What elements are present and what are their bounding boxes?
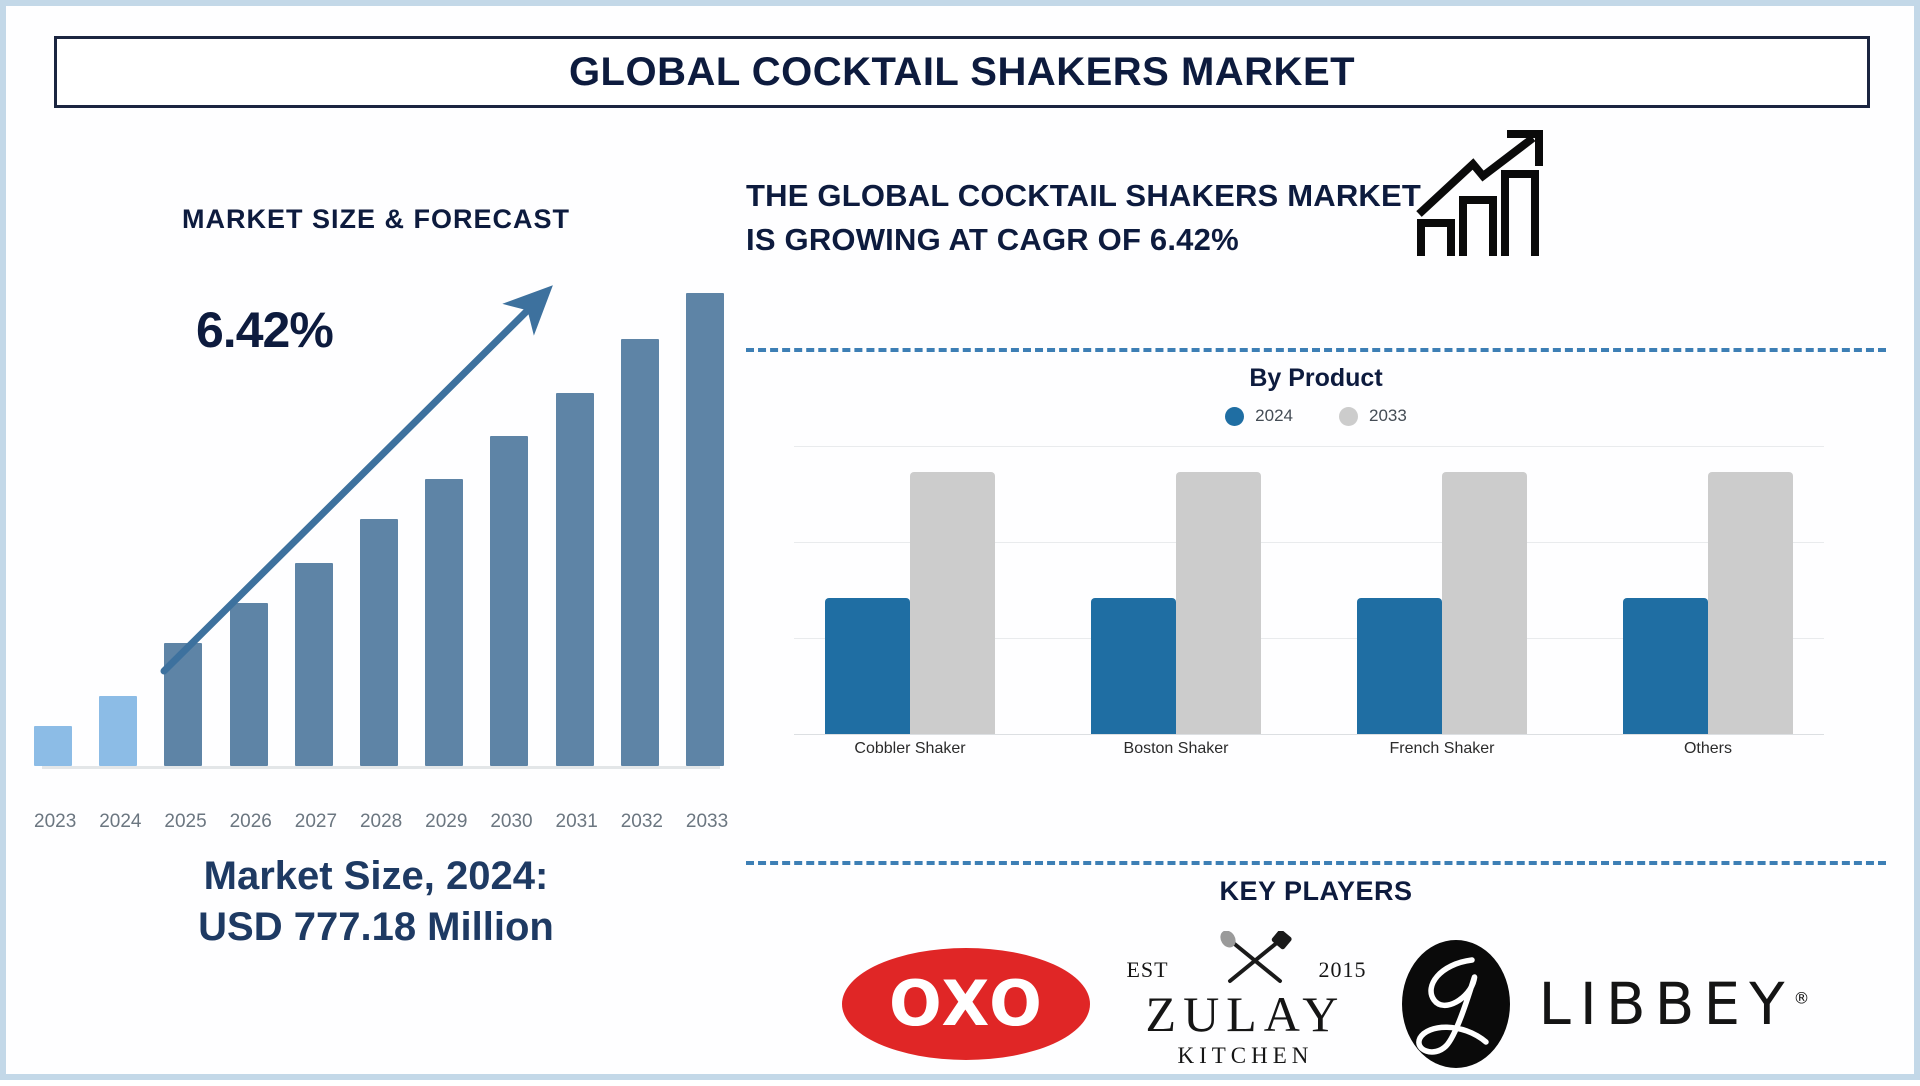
product-category-label: Cobbler Shaker	[794, 740, 1026, 758]
legend-swatch-icon	[1339, 407, 1358, 426]
year-axis-labels: 2023202420252026202720282029203020312032…	[34, 811, 724, 833]
libbey-wordmark: LIBBEY®	[1538, 970, 1809, 1038]
legend-label: 2033	[1369, 406, 1407, 426]
oxo-logo: OXO	[842, 948, 1090, 1060]
zulay-kitchen-logo: EST 2015 ZULAY KITCHEN	[1120, 929, 1370, 1079]
market-size-line-1: Market Size, 2024:	[6, 851, 746, 902]
libbey-logo: LIBBEY®	[1400, 938, 1809, 1070]
year-label: 2028	[360, 811, 398, 833]
infographic-canvas: GLOBAL COCKTAIL SHAKERS MARKET MARKET SI…	[6, 6, 1914, 1074]
divider-bottom	[746, 861, 1886, 865]
crossed-utensils-icon	[1216, 931, 1294, 987]
market-size-bar	[425, 479, 463, 766]
legend-item[interactable]: 2033	[1339, 406, 1407, 426]
product-bar	[1091, 598, 1176, 734]
year-label: 2029	[425, 811, 463, 833]
zulay-est-label: EST	[1126, 957, 1168, 983]
key-players-title: KEY PLAYERS	[746, 876, 1886, 907]
market-size-value: Market Size, 2024: USD 777.18 Million	[6, 851, 746, 953]
zulay-subtitle: KITCHEN	[1120, 1043, 1370, 1069]
product-bar	[1708, 472, 1793, 734]
product-bar	[825, 598, 910, 734]
market-size-panel: MARKET SIZE & FORECAST 6.42% 20232024202…	[6, 116, 746, 1076]
product-chart-legend: 20242033	[746, 406, 1886, 426]
product-category-label: Others	[1592, 740, 1824, 758]
product-bar	[1176, 472, 1261, 734]
year-label: 2026	[230, 811, 268, 833]
product-category-labels: Cobbler ShakerBoston ShakerFrench Shaker…	[794, 740, 1824, 758]
divider-top	[746, 348, 1886, 352]
legend-item[interactable]: 2024	[1225, 406, 1293, 426]
year-label: 2031	[556, 811, 594, 833]
product-bar-group	[1592, 446, 1824, 734]
market-size-bar	[621, 339, 659, 766]
zulay-wordmark: ZULAY	[1120, 985, 1370, 1043]
product-axis-line	[794, 734, 1824, 735]
by-product-title: By Product	[746, 364, 1886, 393]
product-category-label: Boston Shaker	[1060, 740, 1292, 758]
market-size-bar	[99, 696, 137, 766]
right-panel: THE GLOBAL COCKTAIL SHAKERS MARKET IS GR…	[746, 116, 1920, 1086]
product-bar-group	[1326, 446, 1558, 734]
market-size-bar	[295, 563, 333, 766]
registered-icon: ®	[1794, 988, 1810, 1007]
market-size-chart	[34, 266, 724, 766]
page-title: GLOBAL COCKTAIL SHAKERS MARKET	[569, 50, 1355, 95]
zulay-year-label: 2015	[1318, 957, 1366, 983]
product-bar	[1442, 472, 1527, 734]
year-label: 2024	[99, 811, 137, 833]
year-label: 2030	[490, 811, 528, 833]
year-label: 2032	[621, 811, 659, 833]
oxo-wordmark: OXO	[889, 967, 1044, 1040]
product-bar	[910, 472, 995, 734]
product-bar-groups	[794, 446, 1824, 734]
year-label: 2025	[164, 811, 202, 833]
libbey-mark-icon	[1400, 938, 1512, 1070]
year-label: 2023	[34, 811, 72, 833]
product-bar-group	[794, 446, 1026, 734]
year-label: 2033	[686, 811, 724, 833]
market-size-heading: MARKET SIZE & FORECAST	[6, 204, 746, 235]
by-product-chart: Cobbler ShakerBoston ShakerFrench Shaker…	[794, 446, 1824, 746]
product-bar	[1357, 598, 1442, 734]
product-category-label: French Shaker	[1326, 740, 1558, 758]
market-size-line-2: USD 777.18 Million	[6, 902, 746, 953]
market-size-bar	[490, 436, 528, 766]
legend-label: 2024	[1255, 406, 1293, 426]
key-players-logos: OXO EST 2015 ZULAY KITCHEN	[746, 921, 1906, 1086]
year-label: 2027	[295, 811, 333, 833]
product-bar	[1623, 598, 1708, 734]
market-size-bar	[34, 726, 72, 766]
libbey-wordmark-text: LIBBEY	[1538, 970, 1793, 1038]
market-size-bars	[34, 266, 724, 766]
product-bar-group	[1060, 446, 1292, 734]
market-size-bar	[360, 519, 398, 766]
market-size-bar	[686, 293, 724, 766]
chart-axis-line	[42, 766, 720, 769]
title-box: GLOBAL COCKTAIL SHAKERS MARKET	[54, 36, 1870, 108]
market-size-bar	[230, 603, 268, 766]
market-size-bar	[164, 643, 202, 766]
growth-chart-icon	[1411, 128, 1551, 263]
market-size-bar	[556, 393, 594, 766]
legend-swatch-icon	[1225, 407, 1244, 426]
